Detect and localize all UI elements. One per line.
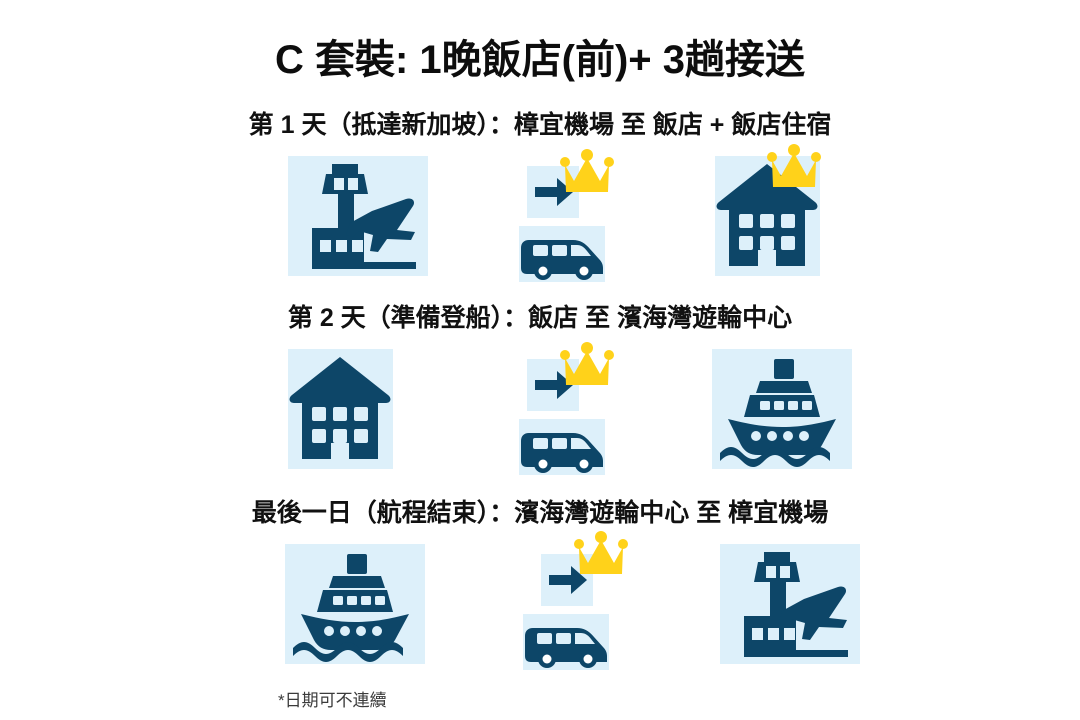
footnote-text: *日期可不連續: [278, 686, 387, 711]
van-icon: [523, 614, 609, 670]
icon-strip-day-3: [0, 536, 1080, 681]
hotel-icon: [288, 349, 393, 469]
arrow-right-icon: [527, 359, 579, 411]
cruise-ship-icon-glyph: [285, 544, 425, 664]
row-caption-day-3: 最後一日（航程結束）：濱海灣遊輪中心 至 樟宜機場: [0, 498, 1080, 528]
icon-strip-day-2: [0, 341, 1080, 486]
arrow-right-icon: [541, 554, 593, 606]
van-icon: [519, 419, 605, 475]
cruise-ship-icon: [285, 544, 425, 664]
hotel-icon-glyph: [715, 156, 820, 276]
van-icon-glyph: [523, 614, 609, 670]
arrow-right-icon-glyph: [527, 359, 579, 411]
icon-strip-day-1: [0, 148, 1080, 293]
hotel-icon-glyph: [288, 349, 393, 469]
arrow-right-icon-glyph: [527, 166, 579, 218]
airport-icon-glyph: [720, 544, 860, 664]
airport-icon-glyph: [288, 156, 428, 276]
package-itinerary-graphic: C 套裝: 1晚飯店(前)+ 3趟接送 第 1 天（抵達新加坡）：樟宜機場 至 …: [0, 0, 1080, 720]
cruise-ship-icon: [712, 349, 852, 469]
itinerary-row-day-1: 第 1 天（抵達新加坡）：樟宜機場 至 飯店 + 飯店住宿: [0, 110, 1080, 293]
hotel-icon: [715, 156, 820, 276]
van-icon-glyph: [519, 419, 605, 475]
row-caption-day-1: 第 1 天（抵達新加坡）：樟宜機場 至 飯店 + 飯店住宿: [0, 110, 1080, 140]
cruise-ship-icon-glyph: [712, 349, 852, 469]
van-icon: [519, 226, 605, 282]
van-icon-glyph: [519, 226, 605, 282]
airport-icon: [720, 544, 860, 664]
page-title: C 套裝: 1晚飯店(前)+ 3趟接送: [0, 38, 1080, 82]
arrow-right-icon-glyph: [541, 554, 593, 606]
arrow-right-icon: [527, 166, 579, 218]
airport-icon: [288, 156, 428, 276]
itinerary-row-day-3: 最後一日（航程結束）：濱海灣遊輪中心 至 樟宜機場: [0, 498, 1080, 681]
itinerary-row-day-2: 第 2 天（準備登船）：飯店 至 濱海灣遊輪中心: [0, 303, 1080, 486]
row-caption-day-2: 第 2 天（準備登船）：飯店 至 濱海灣遊輪中心: [0, 303, 1080, 333]
